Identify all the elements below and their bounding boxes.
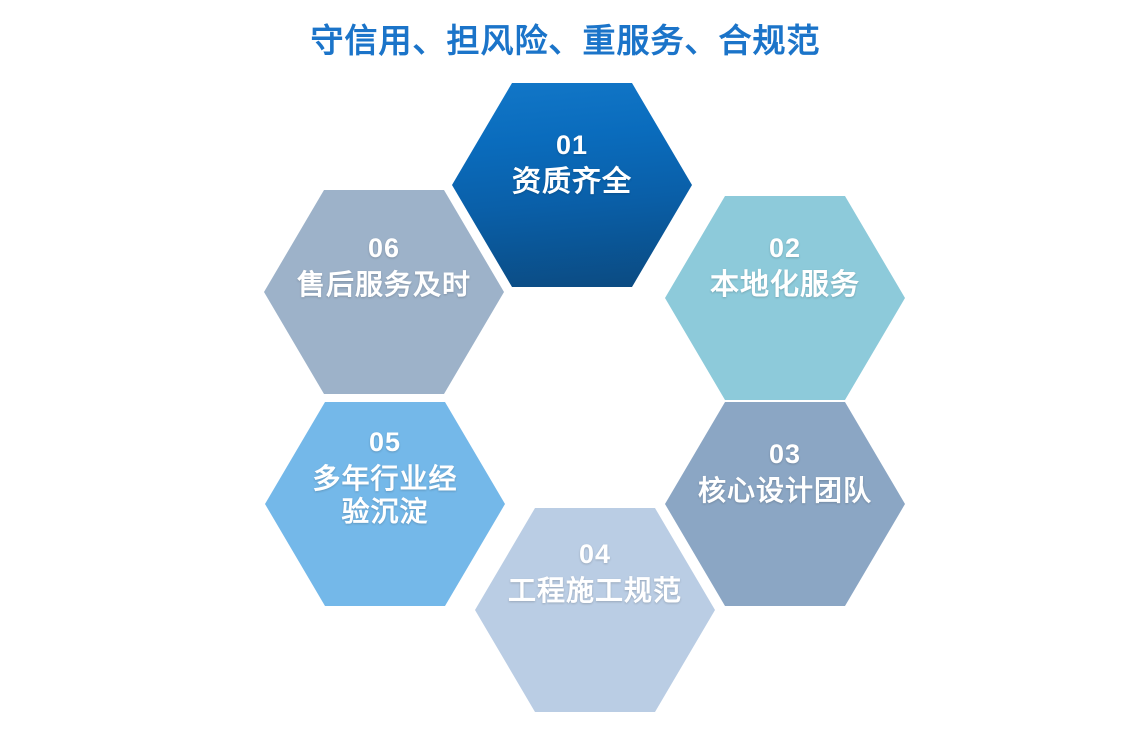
hexagon-item-05[interactable] (265, 402, 505, 606)
infographic-canvas: 守信用、担风险、重服务、合规范 01 资质齐全 02 本地化服务 03 核心设计… (0, 0, 1131, 739)
hexagon-item-04[interactable] (475, 508, 715, 712)
hexagon-item-02[interactable] (665, 196, 905, 400)
hexagon-ring: 01 资质齐全 02 本地化服务 03 核心设计团队 04 工程施工规范 05 … (0, 0, 1131, 739)
hexagon-item-03[interactable] (665, 402, 905, 606)
hexagon-item-01[interactable] (452, 83, 692, 287)
hexagon-item-06[interactable] (264, 190, 504, 394)
